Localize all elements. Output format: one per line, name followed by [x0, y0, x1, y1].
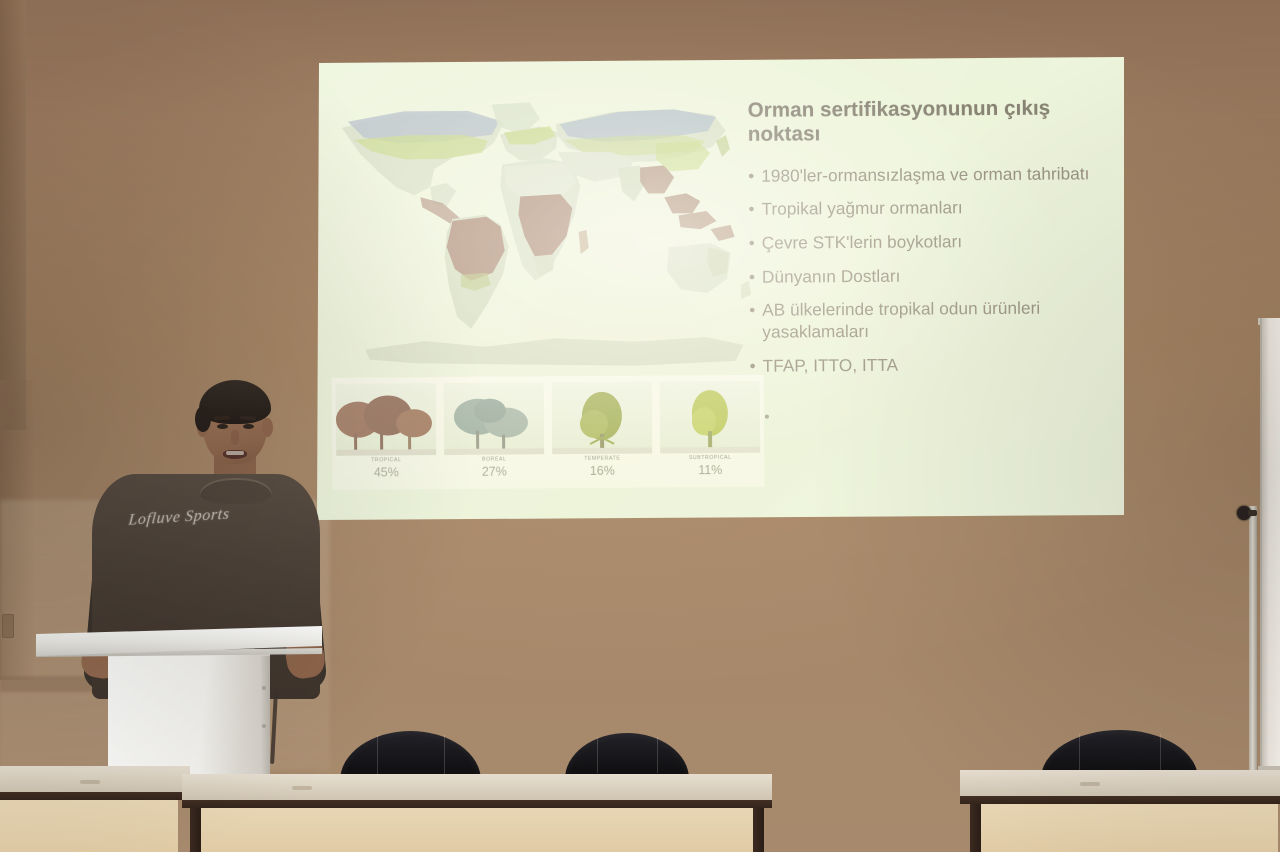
desk-cable-hole: [80, 780, 100, 784]
caption-tropical: TROPICAL 45%: [336, 457, 436, 480]
bullet-item-1: • 1980'ler-ormansızlaşma ve orman tahrib…: [748, 163, 1110, 187]
podium-screw: [262, 724, 266, 728]
chair-seam: [377, 735, 378, 774]
bullet-text-2: Tropikal yağmur ormanları: [761, 196, 1110, 220]
desk-cable-hole: [292, 786, 312, 790]
caption-boreal: BOREAL 27%: [444, 456, 544, 479]
slide-bullet-list: • 1980'ler-ormansızlaşma ve orman tahrib…: [748, 163, 1112, 377]
presenter-right-eye: [243, 424, 254, 429]
presenter-left-eye: [217, 424, 228, 429]
caption-value-temperate: 16%: [552, 464, 652, 479]
podium-column: [108, 652, 270, 776]
chair-seam: [597, 737, 598, 773]
slide-title: Orman sertifikasyonunun çıkış noktası: [748, 96, 1110, 146]
desk-far-left[interactable]: [0, 766, 190, 852]
caption-value-tropical: 45%: [336, 465, 436, 480]
caption-label-boreal: BOREAL: [444, 456, 544, 463]
presenter-right-ear: [262, 418, 273, 437]
desk-leg: [190, 804, 201, 852]
bullet-text-5: AB ülkelerinde tropikal odun ürünleri ya…: [762, 297, 1111, 343]
presentation-slide: TROPICAL 45% BOREAL 27% TEMPERATE 16% SU…: [315, 54, 1127, 524]
presenter-collar: [200, 478, 272, 504]
chair-seam: [657, 737, 658, 773]
thumbnail-subtropical: [660, 381, 761, 454]
podium-side-edge: [261, 656, 270, 776]
caption-value-subtropical: 11%: [660, 463, 760, 478]
caption-label-tropical: TROPICAL: [336, 457, 436, 464]
thumbnail-tropical: [336, 383, 437, 456]
bullet-item-4: • Dünyanın Dostları: [749, 264, 1111, 288]
bullet-marker-icon: •: [749, 300, 755, 343]
chair-seam: [1079, 734, 1080, 772]
thumbnail-captions-row: TROPICAL 45% BOREAL 27% TEMPERATE 16% SU…: [332, 453, 764, 480]
bullet-text-6: TFAP, ITTO, ITTA: [763, 353, 1112, 377]
bullet-marker-icon: •: [749, 266, 755, 288]
chair-seam: [444, 735, 445, 774]
desk-modesty-panel: [972, 804, 1278, 852]
desk-modesty-panel: [0, 800, 178, 852]
bullet-marker-icon: •: [749, 355, 755, 377]
presenter-hair: [199, 380, 271, 424]
bullet-text-1: 1980'ler-ormansızlaşma ve orman tahribat…: [761, 163, 1110, 187]
desk-surface: [182, 774, 772, 800]
bullet-item-3: • Çevre STK'lerin boykotları: [749, 230, 1111, 254]
podium-cable: [270, 692, 278, 764]
temperate-tree-icon: [552, 382, 653, 455]
world-map-svg: [334, 89, 756, 384]
caption-label-subtropical: SUBTROPICAL: [660, 455, 760, 462]
world-forest-map: [334, 89, 756, 384]
slide-artifact-dot: [765, 415, 769, 419]
forest-type-thumbnails: TROPICAL 45% BOREAL 27% TEMPERATE 16% SU…: [332, 375, 765, 490]
thumbnail-images-row: [332, 375, 765, 456]
bullet-text-4: Dünyanın Dostları: [762, 264, 1111, 288]
tropical-trees-icon: [336, 383, 437, 456]
bullet-item-6: • TFAP, ITTO, ITTA: [749, 353, 1111, 377]
whiteboard-adjust-knob[interactable]: [1237, 506, 1251, 520]
desk-surface: [960, 770, 1280, 796]
boreal-trees-icon: [444, 382, 545, 455]
thumbnail-temperate: [552, 382, 653, 455]
desk-front-right[interactable]: [960, 770, 1280, 852]
bullet-text-3: Çevre STK'lerin boykotları: [762, 230, 1111, 254]
bullet-item-5: • AB ülkelerinde tropikal odun ürünleri …: [749, 297, 1111, 343]
subtropical-tree-icon: [660, 381, 761, 454]
desk-leg: [970, 800, 981, 852]
desk-surface: [0, 766, 190, 792]
presenter-mouth: [223, 450, 247, 459]
wall-seam: [0, 0, 26, 430]
classroom-scene: TROPICAL 45% BOREAL 27% TEMPERATE 16% SU…: [0, 0, 1280, 852]
wall-socket: [2, 614, 14, 638]
bullet-marker-icon: •: [748, 165, 754, 187]
podium-screw: [262, 686, 266, 690]
caption-value-boreal: 27%: [444, 464, 544, 479]
podium: [36, 626, 326, 776]
caption-subtropical: SUBTROPICAL 11%: [660, 455, 760, 478]
bullet-item-2: • Tropikal yağmur ormanları: [748, 196, 1110, 220]
caption-label-temperate: TEMPERATE: [552, 455, 652, 462]
desk-modesty-panel: [194, 808, 760, 852]
chair-seam: [1160, 734, 1161, 772]
bullet-marker-icon: •: [749, 233, 755, 255]
thumbnail-boreal: [444, 382, 545, 455]
desk-leg: [753, 804, 764, 852]
slide-text-column: Orman sertifikasyonunun çıkış noktası • …: [748, 96, 1112, 389]
projection-screen: TROPICAL 45% BOREAL 27% TEMPERATE 16% SU…: [317, 57, 1126, 521]
desk-front-center[interactable]: [182, 774, 772, 852]
whiteboard-surface: [1260, 318, 1280, 773]
bullet-marker-icon: •: [748, 199, 754, 221]
desk-cable-hole: [1080, 782, 1100, 786]
caption-temperate: TEMPERATE 16%: [552, 456, 652, 479]
presenter-nose: [231, 430, 239, 445]
